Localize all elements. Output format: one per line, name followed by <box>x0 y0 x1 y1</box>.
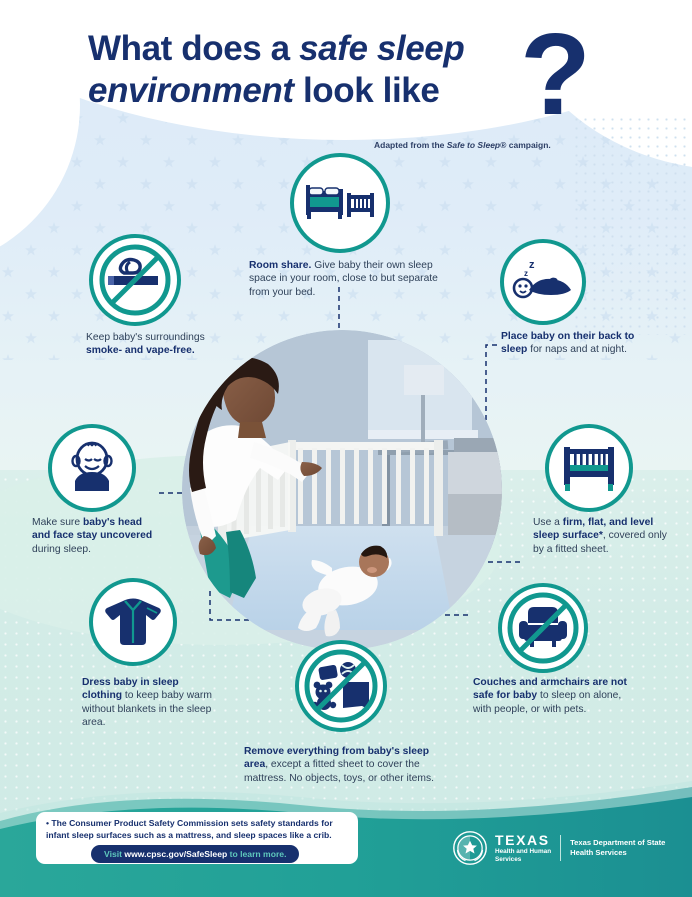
footer-pill-post: to learn more. <box>227 849 286 859</box>
callout-back-to-sleep: Place baby on their back to sleep for na… <box>501 330 645 357</box>
callout-firm-surface-pre: Use a <box>533 517 563 528</box>
no-smoking-icon <box>98 243 172 317</box>
texas-hhs-wordmark: TEXAS Health and Human Services <box>495 833 551 863</box>
icon-baby-face-uncovered <box>48 424 136 512</box>
infographic-poster: What does a safe sleep environment look … <box>0 0 692 897</box>
baby-face-icon <box>61 437 123 499</box>
icon-bed-and-crib <box>290 153 390 253</box>
icon-sleep-clothing <box>89 578 177 666</box>
icon-no-smoking <box>89 234 181 326</box>
baby-sleeping-on-back-icon: z z <box>511 256 575 308</box>
footer-bullet: • <box>46 818 49 828</box>
footer-pill-url: www.cpsc.gov/SafeSleep <box>124 849 227 859</box>
agency-logos: TEXAS Health and Human Services Texas De… <box>452 830 665 866</box>
callout-head-uncovered-text: during sleep. <box>32 544 91 555</box>
cpsc-link-button[interactable]: Visit www.cpsc.gov/SafeSleep to learn mo… <box>91 845 299 863</box>
no-armchair-icon <box>506 591 580 665</box>
icon-baby-sleeping-on-back: z z <box>500 239 586 325</box>
footer-note: • The Consumer Product Safety Commission… <box>46 818 352 841</box>
svg-text:z: z <box>529 259 535 271</box>
callout-room-share-bold: Room share. <box>249 260 311 271</box>
callout-back-to-sleep-text: for naps and at night. <box>527 344 627 355</box>
callout-head-uncovered-pre: Make sure <box>32 517 83 528</box>
callout-smoke-free-pre: Keep baby's surroundings <box>86 332 205 343</box>
nursery-photograph <box>182 330 502 650</box>
no-objects-icon <box>303 648 379 724</box>
dshs-label-line2: Health Services <box>570 848 665 858</box>
bed-and-crib-icon <box>304 177 376 229</box>
logo-divider <box>560 835 561 861</box>
icon-no-couches-armchairs <box>498 583 588 673</box>
footer-pill-pre: Visit <box>104 849 124 859</box>
callout-sleep-clothing: Dress baby in sleep clothing to keep bab… <box>82 676 220 730</box>
callout-room-share: Room share. Give baby their own sleep sp… <box>249 259 445 299</box>
texas-label: TEXAS <box>495 833 551 848</box>
crib-icon <box>558 443 620 493</box>
sleep-sack-icon <box>101 593 165 651</box>
icon-crib-firm-surface <box>545 424 633 512</box>
dshs-label-line1: Texas Department of State <box>570 838 665 848</box>
callout-firm-surface: Use a firm, flat, and level sleep surfac… <box>533 516 673 556</box>
hhs-label-line2: Services <box>495 856 551 864</box>
hhs-label-line1: Health and Human <box>495 848 551 856</box>
callout-head-uncovered: Make sure baby's head and face stay unco… <box>32 516 162 556</box>
svg-text:z: z <box>524 269 528 278</box>
callout-no-couches: Couches and armchairs are not safe for b… <box>473 676 629 716</box>
texas-hhs-seal-icon <box>452 830 488 866</box>
callout-smoke-free: Keep baby's surroundings smoke- and vape… <box>86 331 216 358</box>
callout-smoke-free-bold: smoke- and vape-free. <box>86 345 195 356</box>
dshs-wordmark: Texas Department of State Health Service… <box>570 838 665 857</box>
icon-no-objects-in-crib <box>295 640 387 732</box>
footer-note-text: The Consumer Product Safety Commission s… <box>46 818 333 840</box>
